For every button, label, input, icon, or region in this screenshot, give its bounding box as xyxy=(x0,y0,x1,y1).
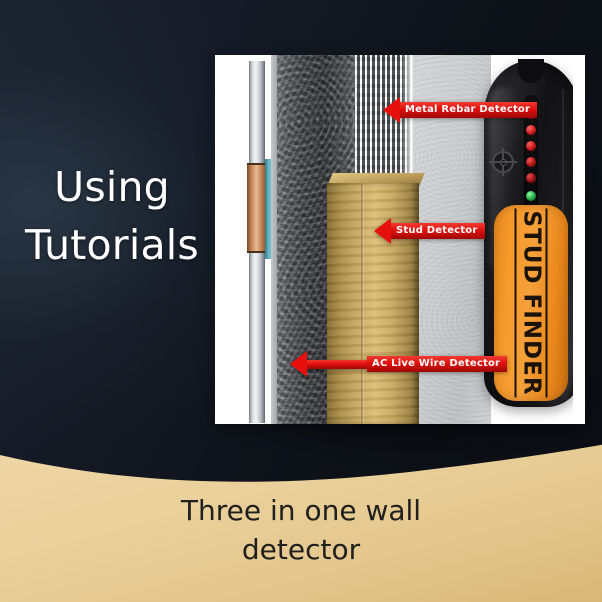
slide-heading: Using Tutorials xyxy=(6,158,218,274)
callout-stem xyxy=(307,360,367,369)
led-red-5-icon xyxy=(526,173,536,183)
crosshair-center-dot xyxy=(500,159,507,166)
callout-metal-rebar-detector: Metal Rebar Detector xyxy=(383,97,537,123)
callout-arrow-icon xyxy=(374,218,391,244)
slide-canvas: Using Tutorials xyxy=(0,0,602,602)
wall-cutaway-illustration: STUD FINDER Metal Rebar Detector Stud De… xyxy=(233,55,573,424)
callout-stud-detector: Stud Detector xyxy=(374,218,485,244)
callout-label: Stud Detector xyxy=(391,223,485,239)
crosshair-target-icon xyxy=(492,151,514,173)
led-red-4-icon xyxy=(526,157,536,167)
led-red-3-icon xyxy=(526,141,536,151)
callout-arrow-icon xyxy=(383,97,400,123)
caption-line-2: detector xyxy=(0,531,602,570)
led-red-2-icon xyxy=(526,125,536,135)
caption-line-1: Three in one wall xyxy=(0,492,602,531)
callout-label: AC Live Wire Detector xyxy=(367,356,507,372)
led-green-1-icon xyxy=(526,191,536,201)
callout-arrow-icon xyxy=(290,351,307,377)
device-brand-label: STUD FINDER xyxy=(515,208,548,397)
heading-line-1: Using xyxy=(6,158,218,216)
callout-ac-live-wire-detector: AC Live Wire Detector xyxy=(290,351,507,377)
heading-line-2: Tutorials xyxy=(6,216,218,274)
wooden-stud-seam xyxy=(361,183,364,424)
slide-caption: Three in one wall detector xyxy=(0,492,602,569)
product-photo-panel: STUD FINDER Metal Rebar Detector Stud De… xyxy=(215,55,585,424)
product-photo: STUD FINDER Metal Rebar Detector Stud De… xyxy=(215,55,585,424)
copper-wire-segment xyxy=(247,163,267,253)
callout-label: Metal Rebar Detector xyxy=(400,102,537,118)
